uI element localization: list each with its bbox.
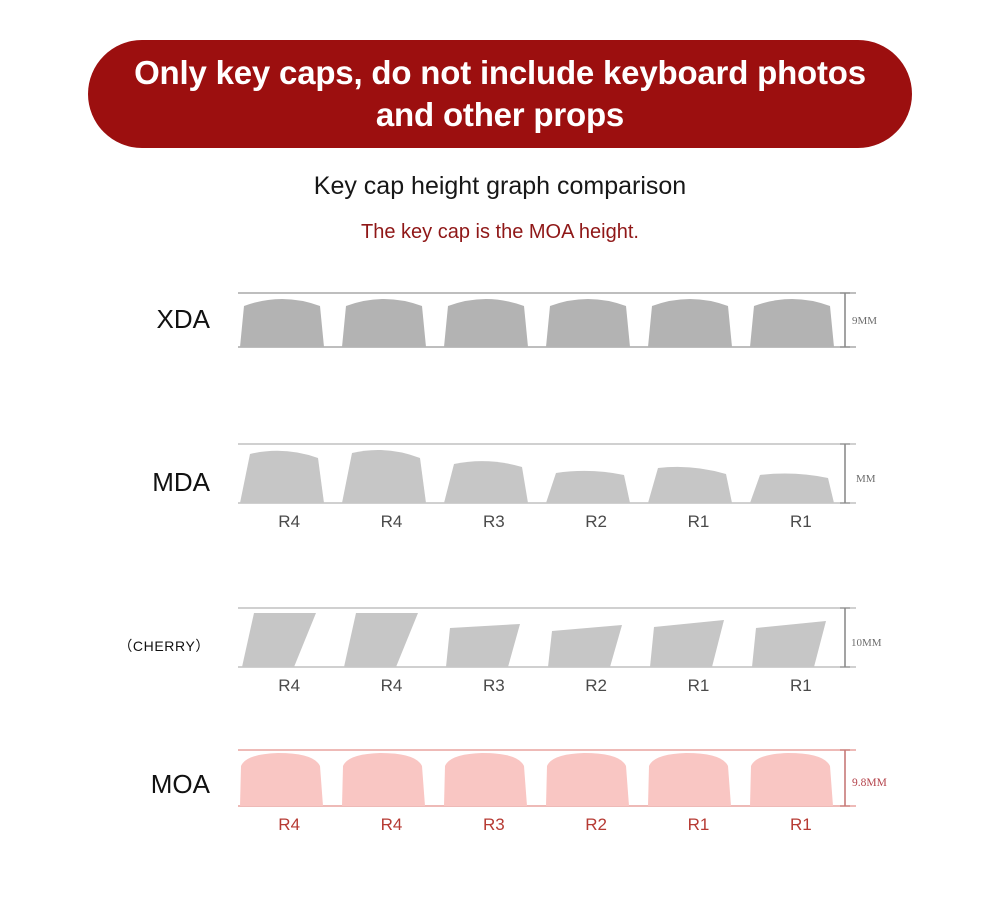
- row-code: R1: [750, 815, 852, 835]
- row-code: R2: [545, 815, 647, 835]
- row-code: R4: [238, 815, 340, 835]
- notice-banner-text: Only key caps, do not include keyboard p…: [114, 52, 886, 136]
- row-code: R1: [647, 815, 749, 835]
- row-code: R4: [340, 512, 442, 532]
- profile-row-moa: MOA 9.8MM R4 R4 R3 R2 R1 R1: [0, 740, 1000, 850]
- row-codes-moa: R4 R4 R3 R2 R1 R1: [238, 815, 852, 835]
- profile-row-xda: XDA 9MM: [0, 284, 1000, 364]
- page-title: Key cap height graph comparison: [0, 172, 1000, 201]
- row-code: R1: [647, 676, 749, 696]
- profile-row-mda: MDA MM R4 R4 R3 R2 R1 R1: [0, 434, 1000, 539]
- profile-row-cherry: （CHERRY） 10MM R4 R4 R3 R2 R1 R1: [0, 598, 1000, 703]
- dimension-label-mda: MM: [856, 473, 876, 485]
- page-subtitle: The key cap is the MOA height.: [0, 221, 1000, 244]
- row-code: R1: [750, 676, 852, 696]
- profile-label-moa: MOA: [60, 769, 210, 800]
- dimension-label-moa: 9.8MM: [852, 777, 887, 789]
- profile-diagram-cherry: [228, 598, 868, 678]
- profile-label-xda: XDA: [60, 304, 210, 335]
- row-code: R1: [647, 512, 749, 532]
- profile-diagram-xda: [228, 284, 868, 360]
- row-code: R2: [545, 512, 647, 532]
- row-codes-cherry: R4 R4 R3 R2 R1 R1: [238, 676, 852, 696]
- notice-banner: Only key caps, do not include keyboard p…: [88, 40, 912, 148]
- profile-diagram-mda: [228, 434, 868, 514]
- row-code: R4: [238, 676, 340, 696]
- row-code: R4: [340, 815, 442, 835]
- dimension-label-xda: 9MM: [852, 315, 877, 327]
- profile-diagram-moa: [228, 740, 868, 820]
- row-code: R4: [340, 676, 442, 696]
- row-code: R3: [443, 815, 545, 835]
- row-code: R3: [443, 676, 545, 696]
- row-codes-mda: R4 R4 R3 R2 R1 R1: [238, 512, 852, 532]
- profile-label-cherry: （CHERRY）: [55, 636, 210, 656]
- row-code: R4: [238, 512, 340, 532]
- row-code: R1: [750, 512, 852, 532]
- row-code: R2: [545, 676, 647, 696]
- profile-label-mda: MDA: [60, 467, 210, 498]
- dimension-label-cherry: 10MM: [851, 637, 882, 649]
- row-code: R3: [443, 512, 545, 532]
